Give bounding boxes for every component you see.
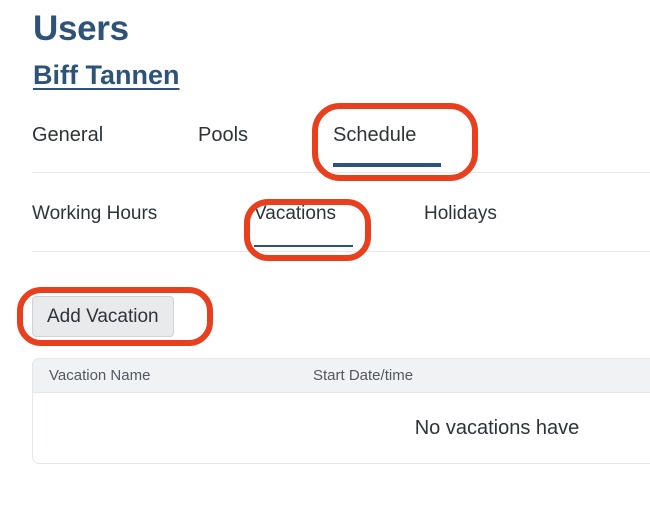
- table-empty-message: No vacations have: [145, 417, 580, 440]
- tab-schedule-label: Schedule: [333, 124, 416, 147]
- subtab-working-hours[interactable]: Working Hours: [32, 196, 187, 252]
- secondary-tab-bar: Working Hours Vacations Holidays: [32, 196, 650, 252]
- subtab-vacations-label: Vacations: [254, 203, 336, 225]
- tab-pools-label: Pools: [198, 124, 248, 147]
- primary-tab-bar: General Pools Schedule: [32, 117, 650, 173]
- subtab-working-hours-label: Working Hours: [32, 203, 157, 225]
- subtab-vacations-active-underline: [254, 245, 353, 247]
- add-vacation-button-label: Add Vacation: [47, 306, 159, 328]
- table-empty-row: No vacations have: [33, 393, 650, 463]
- tab-general-label: General: [32, 124, 103, 147]
- add-vacation-button[interactable]: Add Vacation: [32, 296, 174, 337]
- user-name-link[interactable]: Biff Tannen: [33, 58, 179, 92]
- page-title: Users: [33, 8, 129, 50]
- vacations-table: Vacation Name Start Date/time No vacatio…: [32, 358, 650, 464]
- subtab-vacations[interactable]: Vacations: [254, 196, 353, 252]
- subtab-holidays-label: Holidays: [424, 203, 497, 225]
- table-header-row: Vacation Name Start Date/time: [33, 359, 650, 393]
- page-root: Users Biff Tannen General Pools Schedule…: [0, 0, 650, 518]
- column-header-vacation-name[interactable]: Vacation Name: [33, 367, 313, 384]
- tab-schedule[interactable]: Schedule: [333, 117, 441, 173]
- tab-pools[interactable]: Pools: [198, 117, 262, 173]
- tab-general[interactable]: General: [32, 117, 127, 173]
- tab-schedule-active-underline: [333, 163, 441, 167]
- column-header-start-datetime[interactable]: Start Date/time: [313, 367, 413, 384]
- subtab-holidays[interactable]: Holidays: [424, 196, 510, 252]
